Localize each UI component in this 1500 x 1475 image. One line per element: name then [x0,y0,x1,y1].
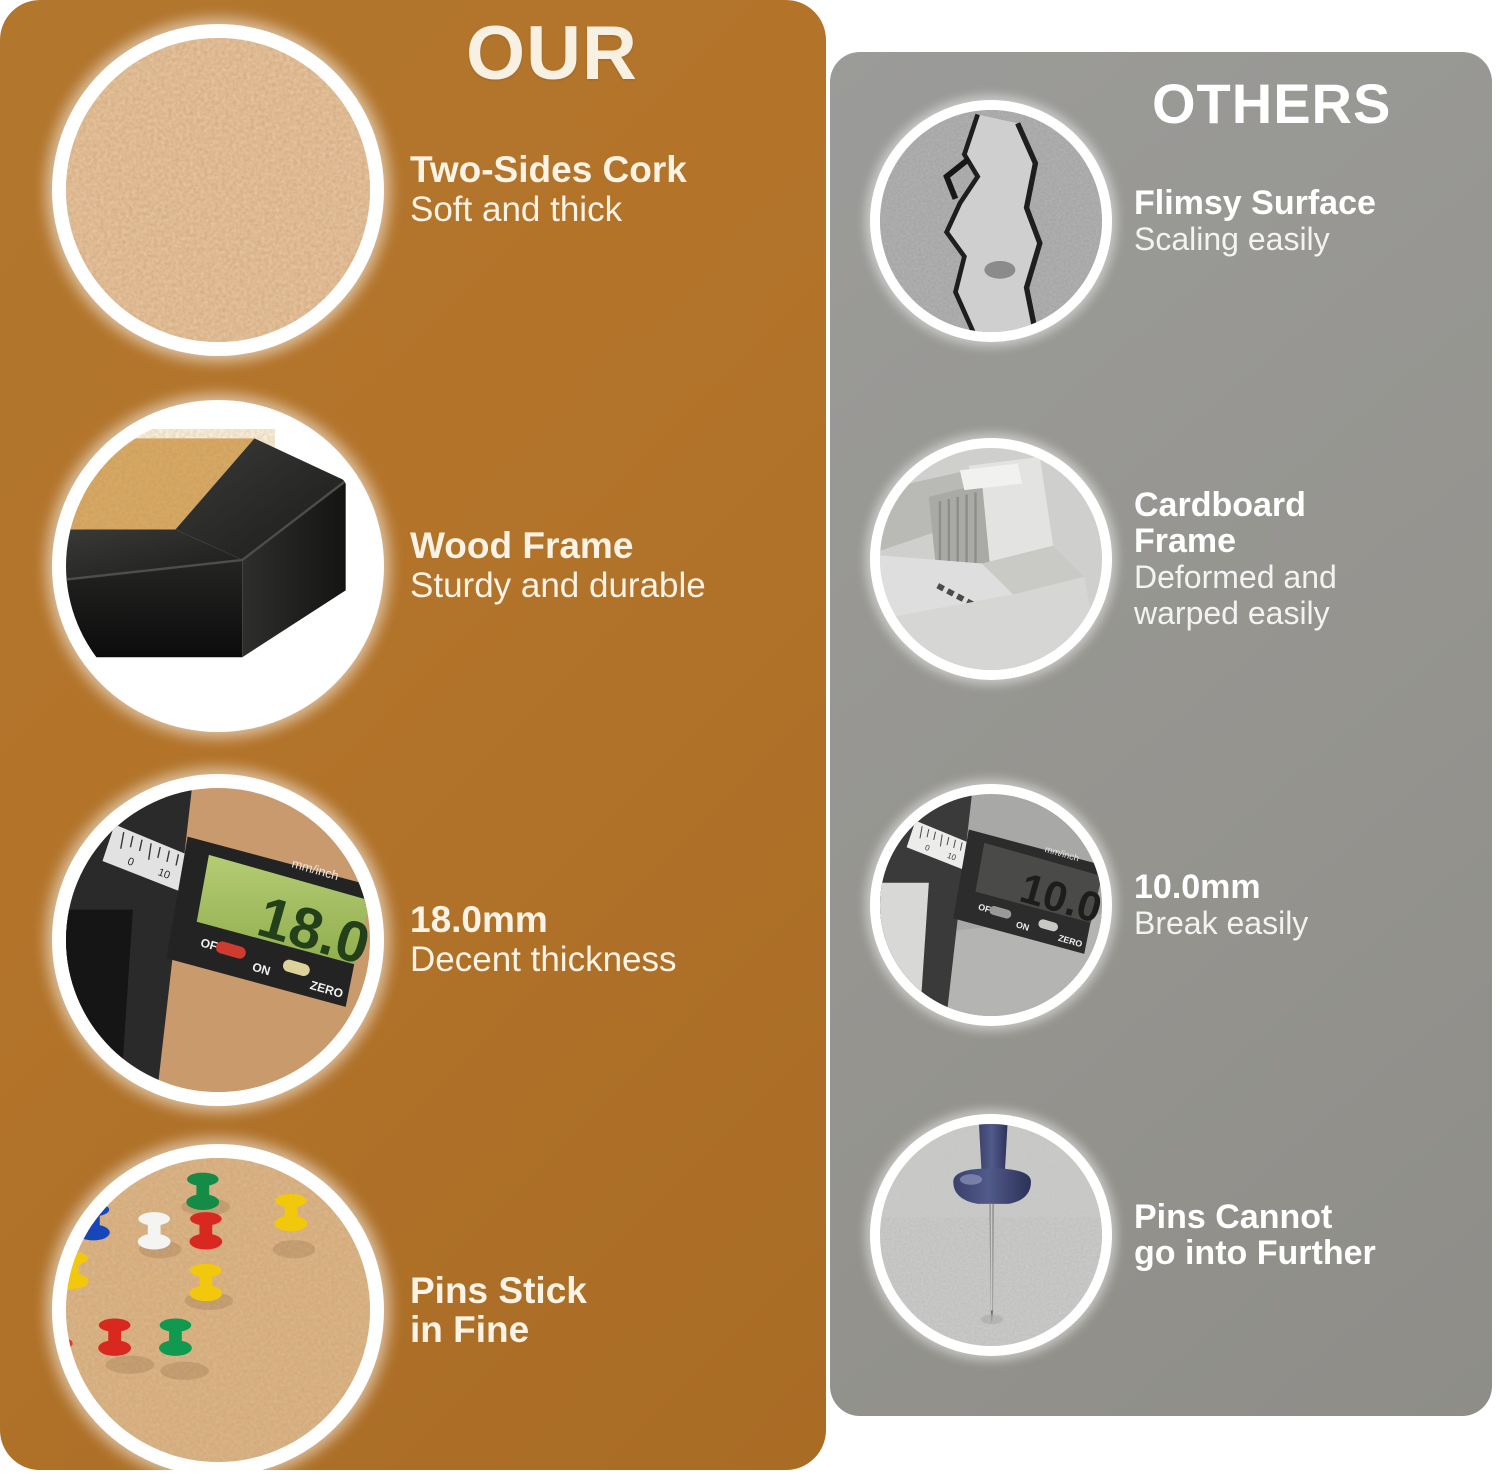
feature-subtitle: Soft and thick [410,190,687,230]
feature-title: 10.0mm [1134,869,1308,905]
others-feature-row-pins: Pins Cannot go into Further [870,1112,1470,1358]
wood-frame-corner-photo [52,400,384,732]
feature-subtitle: Break easily [1134,905,1308,941]
feature-title: Wood Frame [410,526,706,565]
pushpins-in-cork-photo [52,1144,384,1475]
cracked-surface-photo [870,100,1112,342]
digital-caliper-gray-icon: 0 10 10.0 mm/inch OFF ON ZERO [880,794,1102,1016]
our-feature-row-thickness: 0 10 18.0 mm/inch OFF ON ZERO [52,772,812,1108]
pushpin-blocked-photo [870,1114,1112,1356]
caliper-18mm-photo: 0 10 18.0 mm/inch OFF ON ZERO [52,774,384,1106]
feature-subtitle: Decent thickness [410,940,677,980]
cardboard-frame-icon [880,448,1102,670]
pushpins-icon [66,1158,370,1462]
our-cork-text: Two-Sides Cork Soft and thick [384,150,687,229]
others-frame-text: Cardboard Frame Deformed and warped easi… [1112,487,1337,632]
comparison-infographic: OUR Two-Sides Cork Soft [0,0,1500,1475]
others-thickness-text: 10.0mm Break easily [1112,869,1308,942]
others-pins-text: Pins Cannot go into Further [1112,1199,1376,1271]
our-feature-row-wood-frame: Wood Frame Sturdy and durable [52,398,812,734]
others-feature-row-thickness: 0 10 10.0 mm/inch OFF ON ZERO 10.0mm [870,782,1470,1028]
feature-title: Pins Cannot go into Further [1134,1199,1376,1271]
cardboard-frame-photo [870,438,1112,680]
pushpin-blocked-icon [880,1124,1102,1346]
feature-title: Two-Sides Cork [410,150,687,189]
feature-subtitle: Sturdy and durable [410,566,706,606]
feature-title: Cardboard Frame [1134,487,1337,559]
feature-title: 18.0mm [410,900,677,939]
wood-frame-icon [66,414,370,718]
our-feature-row-pins: Pins Stick in Fine [52,1142,812,1475]
digital-caliper-icon: 0 10 18.0 mm/inch OFF ON ZERO [66,788,370,1092]
caliper-10mm-photo: 0 10 10.0 mm/inch OFF ON ZERO [870,784,1112,1026]
others-surface-text: Flimsy Surface Scaling easily [1112,185,1376,258]
others-feature-row-surface: Flimsy Surface Scaling easily [870,98,1470,344]
our-pins-text: Pins Stick in Fine [384,1271,587,1349]
feature-subtitle: Scaling easily [1134,221,1376,257]
our-wood-frame-text: Wood Frame Sturdy and durable [384,526,706,605]
our-thickness-text: 18.0mm Decent thickness [384,900,677,979]
feature-title: Flimsy Surface [1134,185,1376,221]
cracked-surface-icon [880,110,1102,332]
our-feature-row-cork: Two-Sides Cork Soft and thick [52,22,812,358]
feature-subtitle: Deformed and warped easily [1134,559,1337,632]
cork-texture-photo [52,24,384,356]
cork-texture-icon [66,38,370,342]
others-feature-row-frame: Cardboard Frame Deformed and warped easi… [870,436,1470,682]
feature-title: Pins Stick in Fine [410,1271,587,1349]
